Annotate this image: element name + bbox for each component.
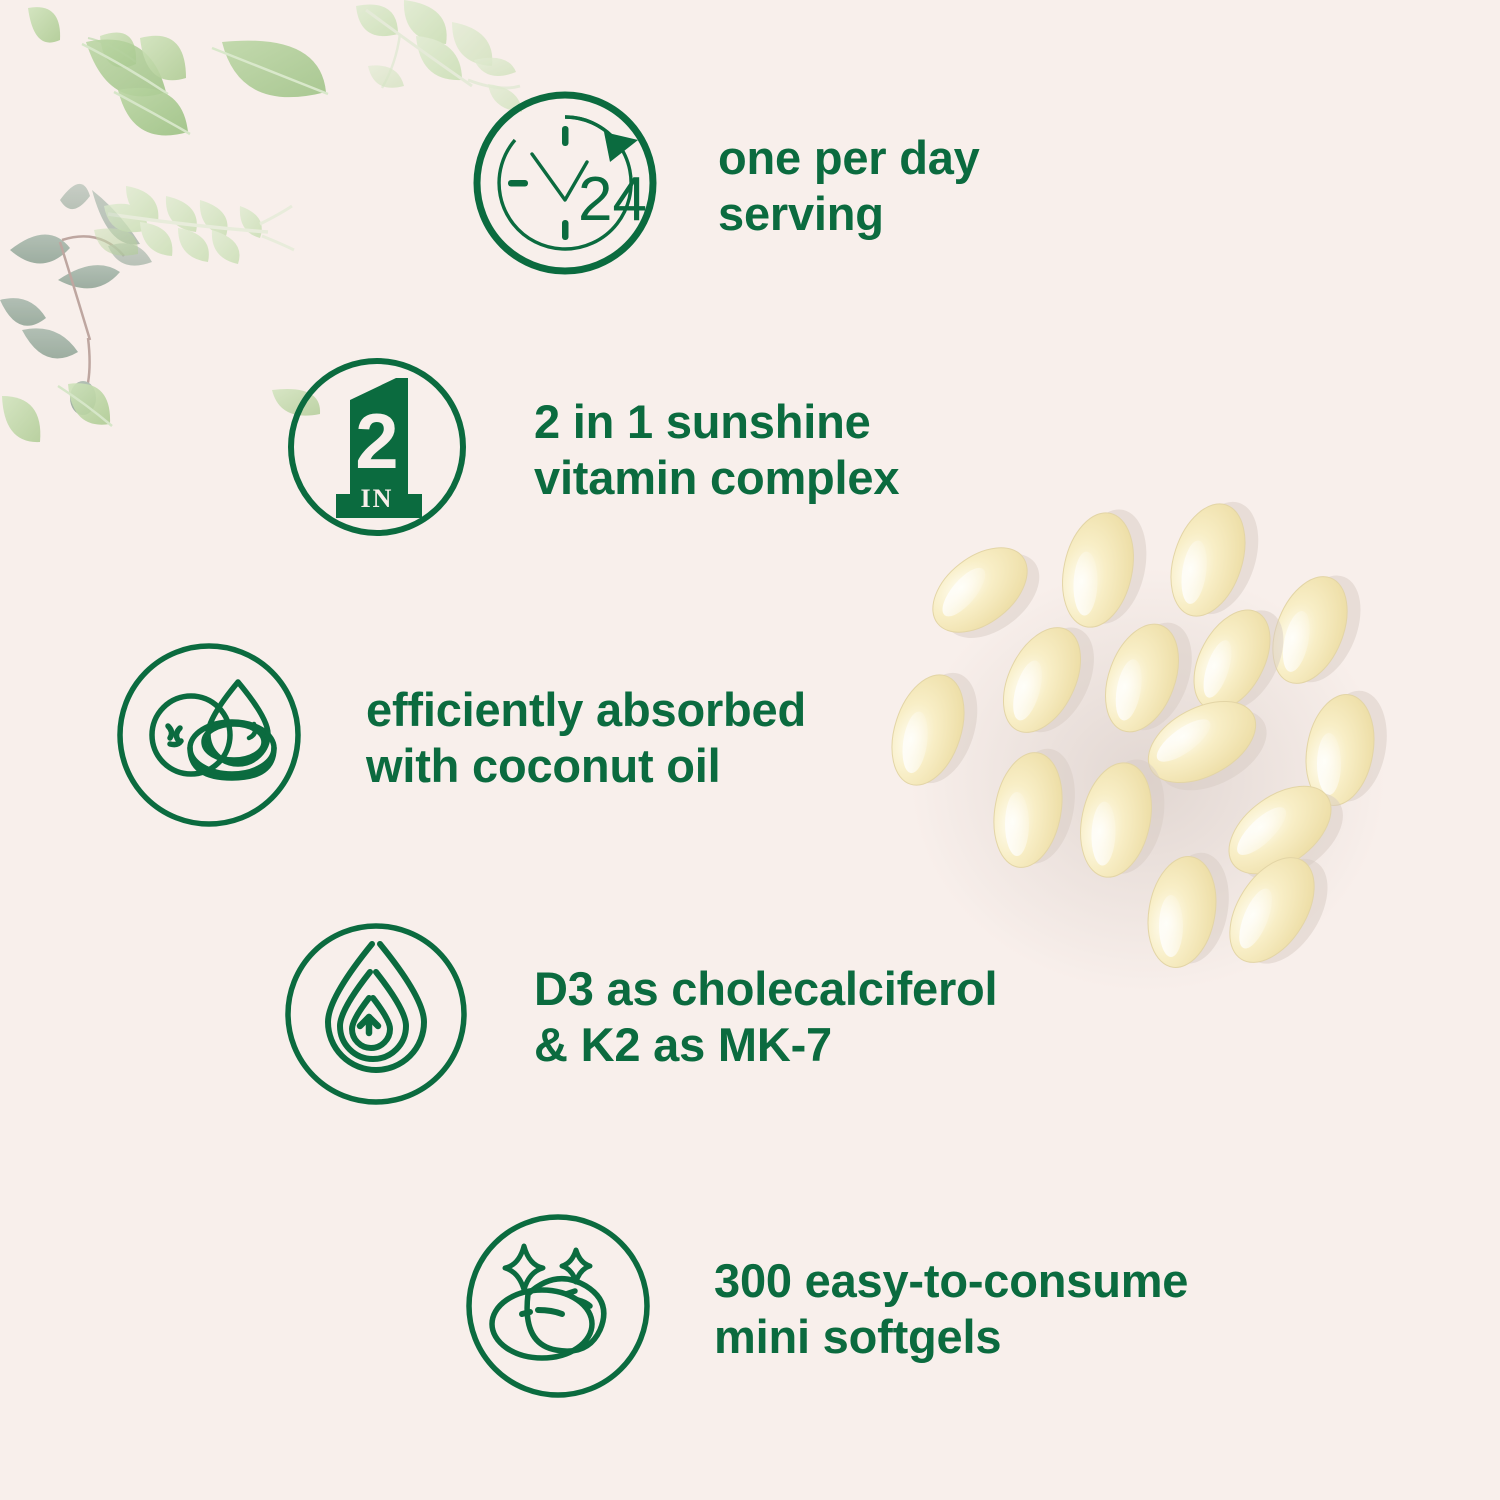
coconut-oil-droplet-icon: [112, 638, 306, 837]
feature-label-coconut-oil: efficiently absorbed with coconut oil: [366, 682, 806, 793]
eucalyptus-sprig-left: [0, 184, 152, 415]
two-in-one-badge-icon: 2 IN: [282, 352, 472, 547]
feature-row-coconut-oil: efficiently absorbed with coconut oil: [112, 638, 806, 837]
feature-label-one-per-day: one per day serving: [718, 130, 980, 241]
feature-row-d3-k2: D3 as cholecalciferol & K2 as MK-7: [280, 918, 997, 1115]
feature-label-mini-softgels: 300 easy-to-consume mini softgels: [714, 1253, 1188, 1364]
feature-label-two-in-one: 2 in 1 sunshine vitamin complex: [534, 394, 899, 505]
clock-hours-label: 24: [578, 165, 647, 234]
clock-24h-icon: 24: [470, 88, 660, 283]
scattered-leaves-top: [28, 7, 328, 135]
infographic-page: 24 one per day serving 2 IN 2 in 1 sunsh…: [0, 0, 1500, 1500]
feature-label-d3-k2: D3 as cholecalciferol & K2 as MK-7: [534, 961, 997, 1072]
sparkling-softgels-icon: [460, 1208, 656, 1409]
badge-word-in: IN: [361, 484, 394, 513]
pale-eucalyptus-branch: [104, 186, 294, 264]
feature-row-one-per-day: 24 one per day serving: [470, 88, 980, 283]
badge-numeral-two: 2: [355, 397, 398, 485]
feature-row-mini-softgels: 300 easy-to-consume mini softgels: [460, 1208, 1188, 1409]
spiral-droplet-icon: [280, 918, 472, 1115]
feature-row-two-in-one: 2 IN 2 in 1 sunshine vitamin complex: [282, 352, 899, 547]
scattered-leaves-bottom: [2, 228, 320, 442]
